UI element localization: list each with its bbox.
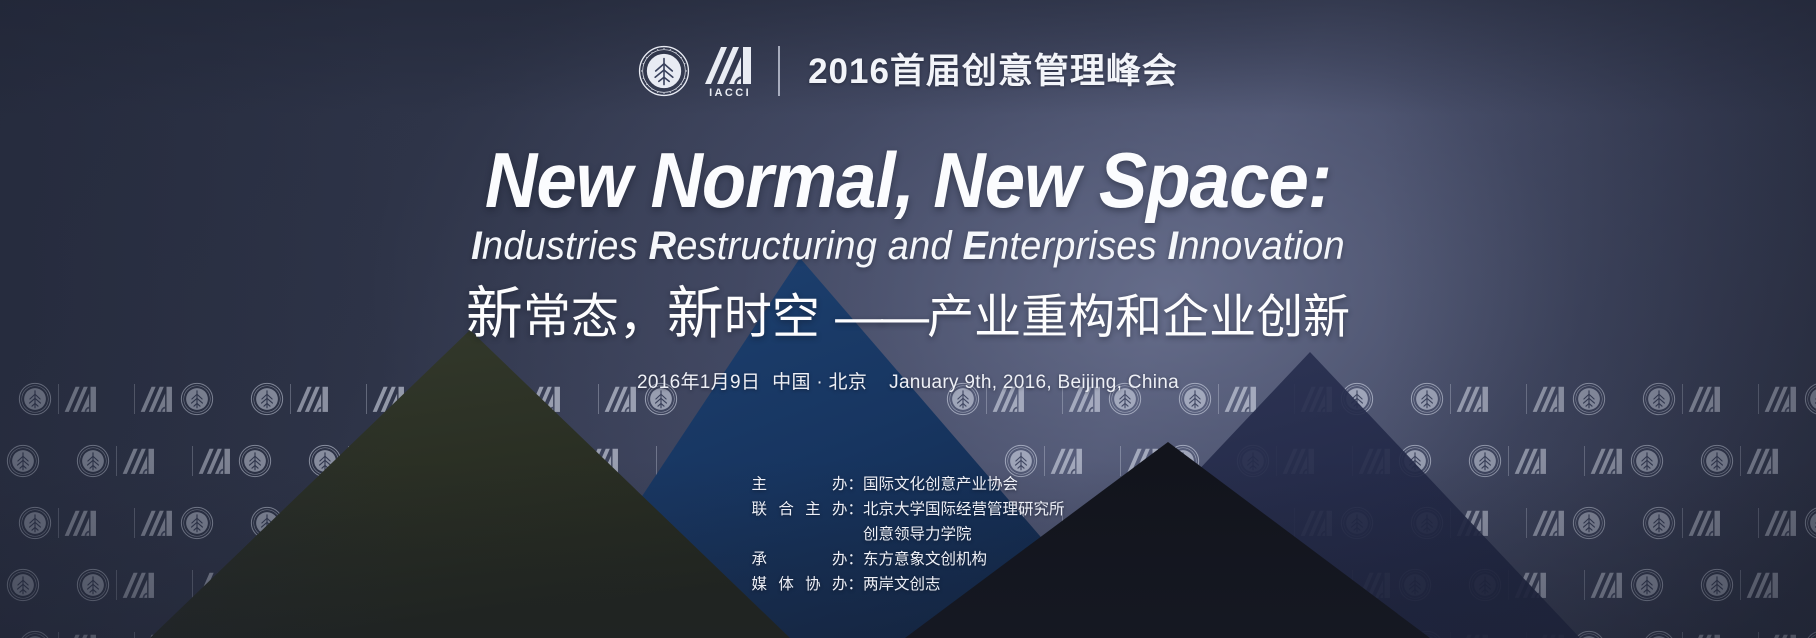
subheadline-cap-i2: I — [1168, 224, 1179, 268]
organizers-block: 主办：国际文化创意产业协会联合主办：北京大学国际经营管理研究所创意领导力学院承办… — [0, 472, 1816, 598]
organizer-value: 北京大学国际经营管理研究所 — [863, 497, 1065, 522]
organizer-label: 媒体协办 — [751, 572, 847, 597]
organizer-row: 创意领导力学院 — [751, 522, 1064, 547]
banner-header: IACCI 2016首届创意管理峰会 — [0, 40, 1816, 102]
chinese-word-2: 常态， — [523, 289, 667, 345]
organizer-row: 主办：国际文化创意产业协会 — [751, 472, 1064, 497]
peking-university-seal-icon — [638, 45, 690, 97]
headline-chinese: 新常态，新时空 ——产业重构和企业创新 — [0, 282, 1816, 348]
hero-block: New Normal, New Space: Industries Restru… — [0, 140, 1816, 394]
subheadline-cap-e: E — [963, 224, 989, 268]
iacci-logo: IACCI — [704, 44, 754, 99]
organizer-row: 承办：东方意象文创机构 — [751, 547, 1064, 572]
iacci-logo-icon — [704, 44, 754, 86]
organizer-colon: ： — [847, 472, 863, 497]
subheadline-cap-i1: I — [471, 224, 482, 268]
subheadline-cap-r: R — [649, 224, 677, 268]
organizer-colon: ： — [847, 547, 863, 572]
organizer-colon: ： — [847, 497, 863, 522]
event-banner: IACCI 2016首届创意管理峰会 New Normal, New Space… — [0, 0, 1816, 638]
vertical-divider-icon — [778, 46, 780, 96]
chinese-tail: 产业重构和企业创新 — [927, 290, 1350, 343]
chinese-em-dash: —— — [835, 291, 927, 344]
subheadline-part-6: nterprises — [988, 224, 1168, 268]
date-english: January 9th, 2016, Beijing, China — [889, 372, 1179, 393]
organizers-table: 主办：国际文化创意产业协会联合主办：北京大学国际经营管理研究所创意领导力学院承办… — [751, 472, 1064, 598]
headline-english: New Normal, New Space: — [64, 140, 1753, 222]
organizer-value: 创意领导力学院 — [863, 522, 1065, 547]
organizer-value: 东方意象文创机构 — [863, 547, 1065, 572]
summit-title: 2016首届创意管理峰会 — [808, 54, 1178, 89]
event-date-line: 2016年1月9日中国 · 北京January 9th, 2016, Beiji… — [0, 367, 1816, 394]
organizer-row: 媒体协办：两岸文创志 — [751, 572, 1064, 597]
date-chinese: 2016年1月9日 — [637, 372, 760, 393]
organizer-row: 联合主办：北京大学国际经营管理研究所 — [751, 497, 1064, 522]
organizer-value: 两岸文创志 — [863, 572, 1065, 597]
chinese-word-3: 新 — [667, 281, 724, 347]
organizer-label: 承办 — [751, 547, 847, 572]
subheadline-part-4: estructuring and — [676, 224, 962, 268]
iacci-wordmark: IACCI — [707, 88, 751, 99]
chinese-word-4: 时空 — [724, 289, 835, 345]
organizer-label — [751, 522, 847, 547]
organizer-colon — [847, 522, 863, 547]
chinese-word-1: 新 — [466, 281, 523, 347]
subheadline-part-8: nnovation — [1178, 224, 1345, 268]
subheadline-part-2: ndustries — [482, 224, 649, 268]
organizer-colon: ： — [847, 572, 863, 597]
organizer-label: 联合主办 — [751, 497, 847, 522]
subheadline-english: Industries Restructuring and Enterprises… — [45, 224, 1770, 268]
organizer-label: 主办 — [751, 472, 847, 497]
organizer-value: 国际文化创意产业协会 — [863, 472, 1065, 497]
place-chinese: 中国 · 北京 — [772, 372, 867, 393]
